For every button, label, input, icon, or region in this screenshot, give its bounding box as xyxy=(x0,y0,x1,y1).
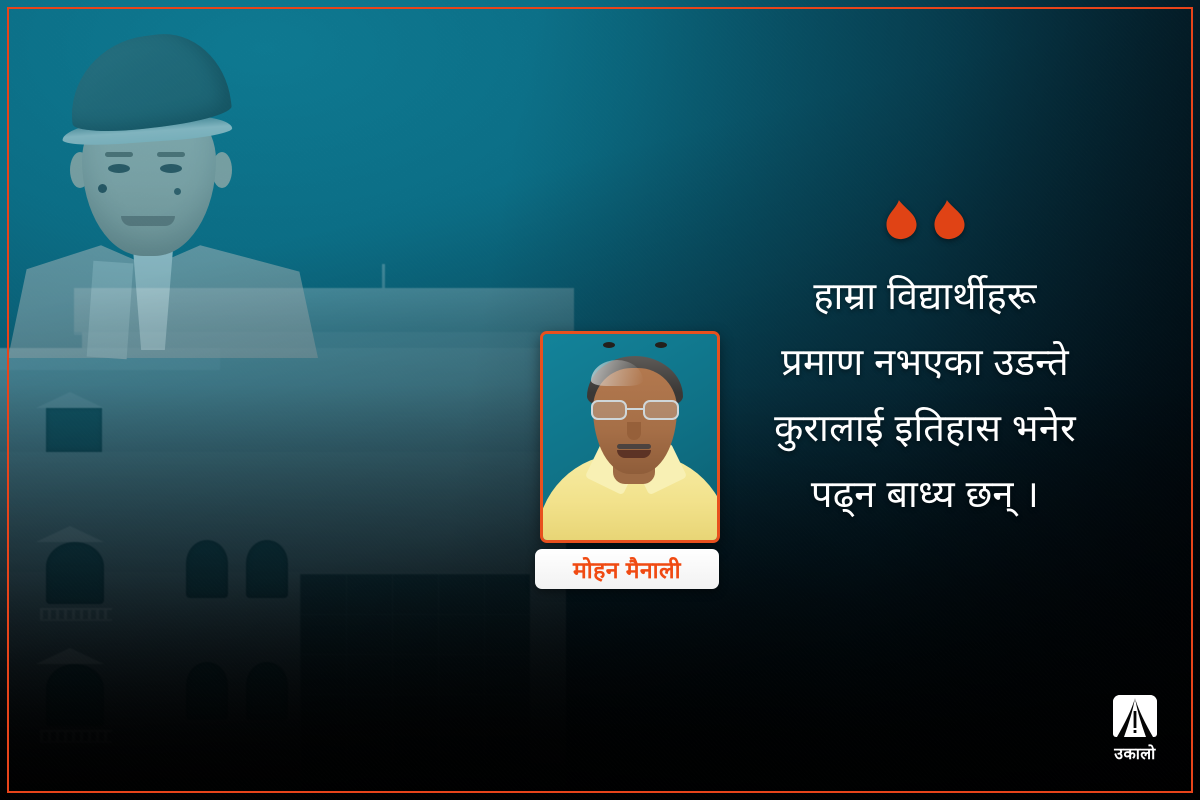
quote-marks xyxy=(700,200,1150,240)
quote-line: प्रमाण नभएका उडन्ते xyxy=(700,330,1150,396)
eyeglasses-icon xyxy=(591,400,679,420)
quote-block: हाम्रा विद्यार्थीहरू प्रमाण नभएका उडन्ते… xyxy=(700,200,1150,528)
brand-name: उकालो xyxy=(1114,742,1155,764)
quote-line: कुरालाई इतिहास भनेर xyxy=(700,396,1150,462)
ukaalo-uphill-road-icon xyxy=(1113,695,1157,737)
quote-mark-icon xyxy=(884,200,918,240)
speaker-nameplate: मोहन मैनाली xyxy=(535,549,719,589)
quote-mark-icon xyxy=(932,200,966,240)
speaker-portrait xyxy=(540,331,720,543)
brand-logo: उकालो xyxy=(1104,695,1166,764)
speaker-name: मोहन मैनाली xyxy=(573,553,681,585)
quote-card: मोहन मैनाली हाम्रा विद्यार्थीहरू प्रमाण … xyxy=(0,0,1200,800)
quote-line: हाम्रा विद्यार्थीहरू xyxy=(700,264,1150,330)
quote-line: पढ्न बाध्य छन् । xyxy=(700,462,1150,528)
quote-text: हाम्रा विद्यार्थीहरू प्रमाण नभएका उडन्ते… xyxy=(700,264,1150,528)
